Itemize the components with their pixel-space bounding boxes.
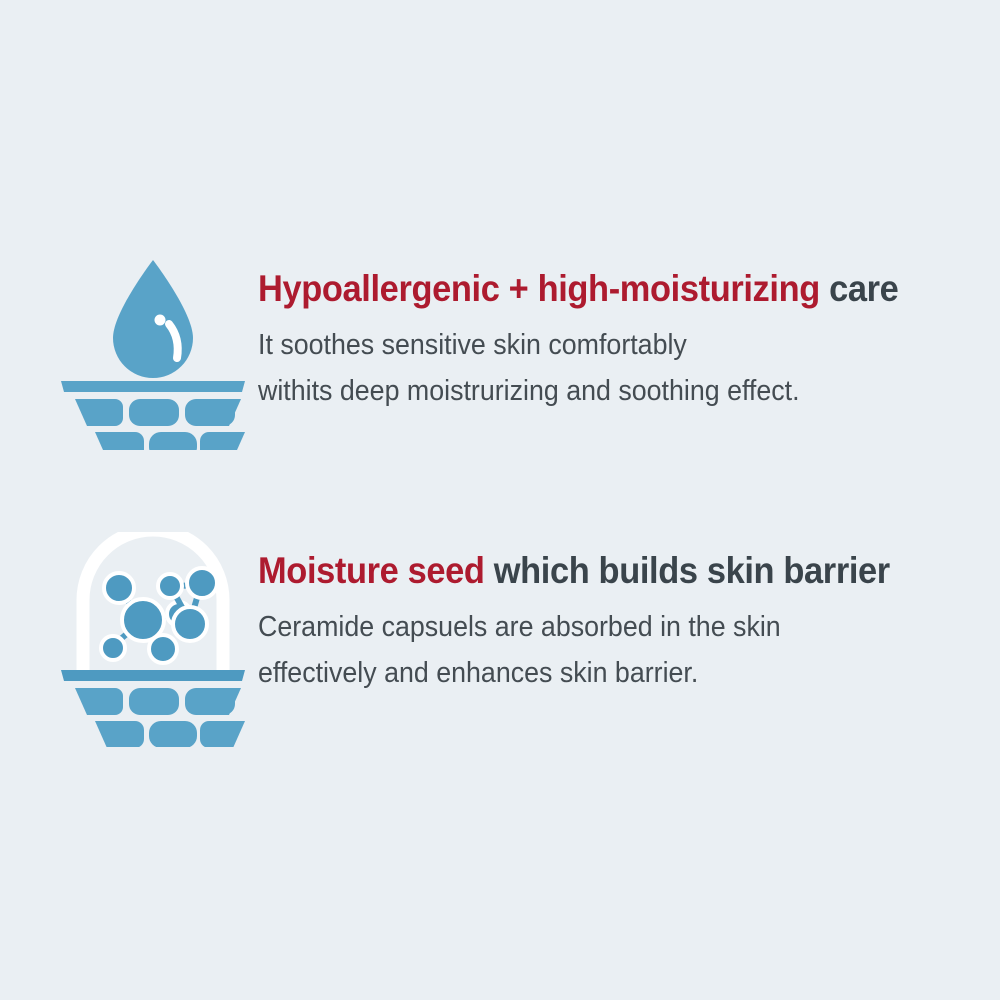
- feature-2-text-slot: Moisture seed which builds skin barrier …: [258, 532, 937, 696]
- feature-2-icon-slot: [48, 532, 258, 747]
- feature-1-body-line-1: It soothes sensitive skin comfortably: [258, 322, 905, 368]
- product-feature-infographic: Hypoallergenic + high-moisturizing care …: [0, 0, 1000, 1000]
- feature-1-icon-slot: [48, 250, 258, 450]
- feature-1-body: It soothes sensitive skin comfortably wi…: [258, 322, 905, 414]
- feature-2-heading-plain: which builds skin barrier: [485, 550, 890, 591]
- feature-block-hypoallergenic: Hypoallergenic + high-moisturizing care …: [48, 250, 947, 450]
- feature-2-body: Ceramide capsuels are absorbed in the sk…: [258, 604, 897, 696]
- moisture-seed-molecules-skin-layers-icon: [53, 532, 253, 747]
- water-droplet-skin-layers-icon: [53, 250, 253, 450]
- feature-1-heading-accent: Hypoallergenic + high-moisturizing: [258, 268, 820, 309]
- feature-1-text-slot: Hypoallergenic + high-moisturizing care …: [258, 250, 947, 414]
- feature-1-heading: Hypoallergenic + high-moisturizing care: [258, 270, 898, 307]
- feature-2-heading: Moisture seed which builds skin barrier: [258, 552, 890, 589]
- feature-1-body-line-2: withits deep moistrurizing and soothing …: [258, 368, 905, 414]
- feature-2-body-line-2: effectively and enhances skin barrier.: [258, 650, 897, 696]
- feature-1-heading-plain: care: [820, 268, 899, 309]
- feature-2-heading-accent: Moisture seed: [258, 550, 485, 591]
- feature-2-body-line-1: Ceramide capsuels are absorbed in the sk…: [258, 604, 897, 650]
- feature-block-moisture-seed: Moisture seed which builds skin barrier …: [48, 532, 937, 747]
